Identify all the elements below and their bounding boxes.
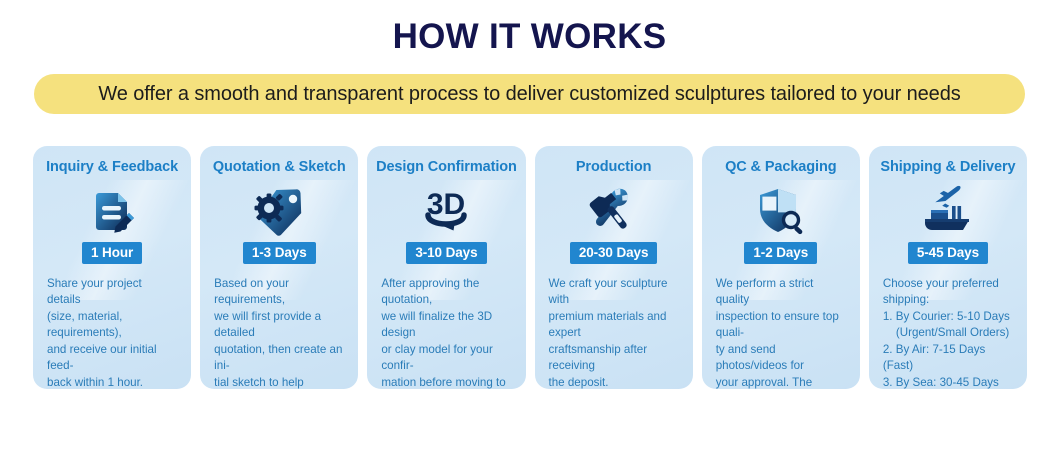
step-description: Choose your preferred shipping: 1. By Co…	[879, 276, 1017, 389]
step-description: We perform a strict quality inspection t…	[712, 276, 850, 389]
shield-magnifier-icon	[712, 184, 850, 238]
shipping-option: 2. By Air: 7-15 Days (Fast)	[883, 342, 1013, 375]
duration-badge: 1 Hour	[82, 242, 142, 264]
infographic-page: HOW IT WORKS We offer a smooth and trans…	[0, 0, 1059, 452]
shipping-list-intro: Choose your preferred shipping:	[883, 276, 1013, 309]
subtitle-banner: We offer a smooth and transparent proces…	[34, 74, 1025, 114]
step-description: Based on your requirements, we will firs…	[210, 276, 348, 389]
steps-row: Inquiry & Feedback	[33, 146, 1027, 389]
body-line: back within 1 hour.	[47, 375, 177, 389]
body-line: (size, material, requirements),	[47, 309, 177, 342]
shipping-option-note: (Urgent/Small Orders)	[883, 325, 1013, 341]
step-title: QC & Packaging	[725, 160, 836, 176]
gear-tag-icon	[210, 184, 348, 238]
step-description: After approving the quotation, we will f…	[377, 276, 515, 389]
body-line: Based on your requirements,	[214, 276, 344, 309]
step-card-qc-packaging[interactable]: QC & Packaging 1-2	[702, 146, 860, 389]
body-line: mation before moving to pro-	[381, 375, 511, 389]
document-pencil-icon	[43, 184, 181, 238]
3d-rotate-icon: 3D	[377, 184, 515, 238]
duration-badge: 1-2 Days	[744, 242, 817, 264]
step-card-quotation-sketch[interactable]: Quotation & Sketch	[200, 146, 358, 389]
duration-badge: 3-10 Days	[406, 242, 486, 264]
duration-badge: 1-3 Days	[243, 242, 316, 264]
body-line: quotation, then create an ini-	[214, 342, 344, 375]
step-card-inquiry-feedback[interactable]: Inquiry & Feedback	[33, 146, 191, 389]
body-line: your approval. The sculpture is	[716, 375, 846, 389]
body-line: or clay model for your confir-	[381, 342, 511, 375]
page-title: HOW IT WORKS	[0, 17, 1059, 57]
body-line: ty and send photos/videos for	[716, 342, 846, 375]
step-card-production[interactable]: Production	[535, 146, 693, 389]
body-line: We perform a strict quality	[716, 276, 846, 309]
hammer-wrench-icon	[545, 184, 683, 238]
body-line: craftsmanship after receiving	[549, 342, 679, 375]
step-card-design-confirmation[interactable]: Design Confirmation 3D 3-10 Days After a…	[367, 146, 525, 389]
body-line: and receive our initial feed-	[47, 342, 177, 375]
body-line: we will first provide a detailed	[214, 309, 344, 342]
shipping-option: 1. By Courier: 5-10 Days	[883, 309, 1013, 325]
body-line: After approving the quotation,	[381, 276, 511, 309]
body-line: we will finalize the 3D design	[381, 309, 511, 342]
step-title: Inquiry & Feedback	[46, 160, 178, 176]
body-line: tial sketch to help visualize	[214, 375, 344, 389]
body-line: the deposit.	[549, 375, 679, 389]
body-line: Share your project details	[47, 276, 177, 309]
step-title: Shipping & Delivery	[880, 160, 1015, 176]
subtitle-text: We offer a smooth and transparent proces…	[98, 83, 960, 106]
3d-label: 3D	[427, 188, 465, 221]
body-line: inspection to ensure top quali-	[716, 309, 846, 342]
step-description: Share your project details (size, materi…	[43, 276, 181, 389]
duration-badge: 20-30 Days	[570, 242, 658, 264]
body-line: premium materials and expert	[549, 309, 679, 342]
step-title: Design Confirmation	[376, 160, 517, 176]
step-description: We craft your sculpture with premium mat…	[545, 276, 683, 389]
body-line: We craft your sculpture with	[549, 276, 679, 309]
shipping-option: 3. By Sea: 30-45 Days	[883, 375, 1013, 389]
ship-plane-icon	[879, 184, 1017, 238]
duration-badge: 5-45 Days	[908, 242, 988, 264]
step-title: Production	[576, 160, 652, 176]
step-card-shipping-delivery[interactable]: Shipping & Delivery	[869, 146, 1027, 389]
step-title: Quotation & Sketch	[213, 160, 346, 176]
